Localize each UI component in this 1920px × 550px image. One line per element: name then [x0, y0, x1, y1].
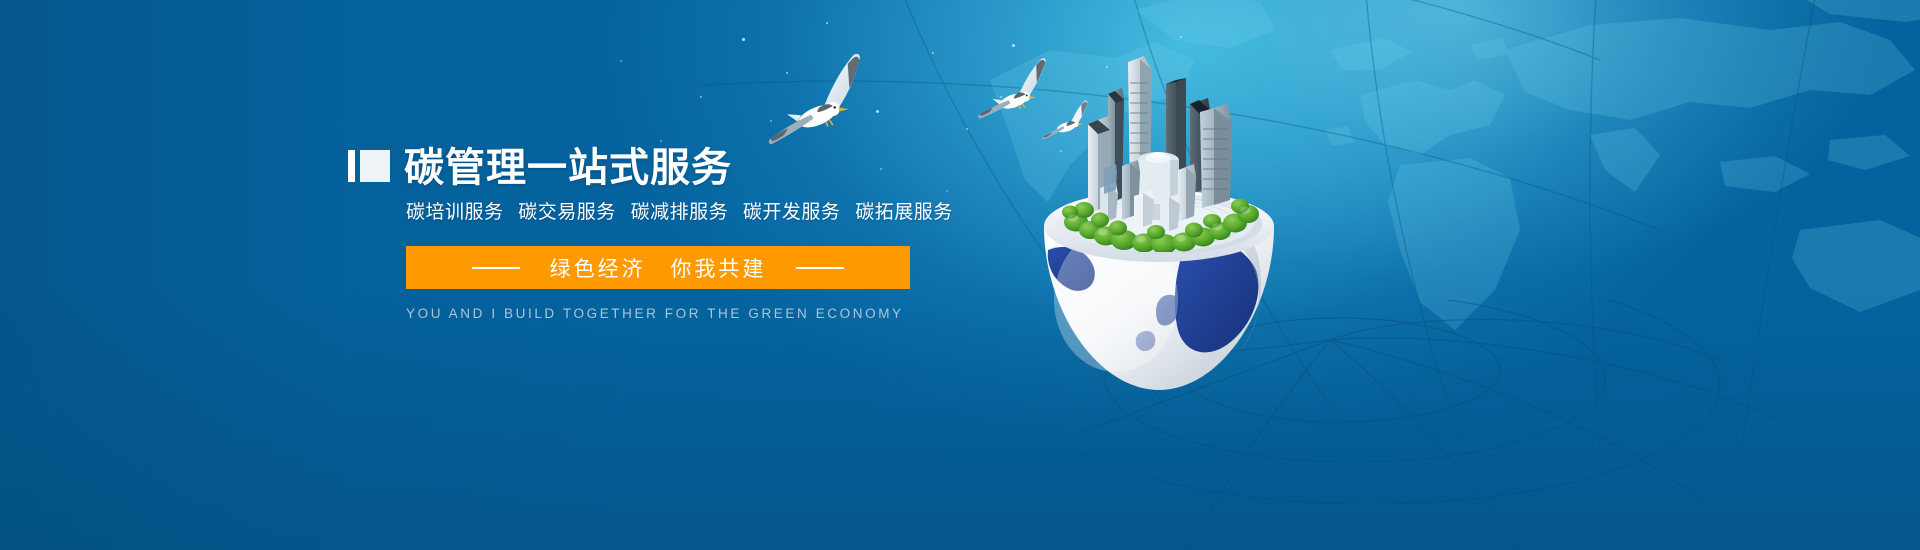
service-item-0: 碳培训服务: [406, 202, 504, 223]
banner-title: 碳管理一站式服务: [404, 148, 732, 188]
service-item-4: 碳拓展服务: [855, 202, 953, 223]
english-tagline: YOU AND I BUILD TOGETHER FOR THE GREEN E…: [406, 306, 1048, 321]
slogan-part-2: 你我共建: [662, 258, 774, 281]
slogan-banner: 绿色经济 你我共建: [406, 246, 910, 289]
slogan-dash-left: [472, 267, 520, 269]
service-item-1: 碳交易服务: [518, 202, 616, 223]
service-item-3: 碳开发服务: [743, 202, 841, 223]
logo-mark-icon: [348, 150, 390, 182]
tree-ring: [1060, 188, 1270, 252]
logo-bar-shape: [348, 150, 355, 182]
hero-banner: 碳管理一站式服务 碳培训服务 碳交易服务 碳减排服务 碳开发服务 碳拓展服务 绿…: [0, 0, 1920, 550]
slogan-part-1: 绿色经济: [542, 258, 654, 281]
banner-text-block: 碳管理一站式服务 碳培训服务 碳交易服务 碳减排服务 碳开发服务 碳拓展服务 绿…: [348, 148, 1048, 321]
logo-square-shape: [360, 150, 390, 182]
seagull-large-icon: [757, 48, 881, 148]
slogan-text: 绿色经济 你我共建: [542, 253, 775, 283]
service-list: 碳培训服务 碳交易服务 碳减排服务 碳开发服务 碳拓展服务: [406, 197, 1048, 224]
service-item-2: 碳减排服务: [631, 202, 729, 223]
title-row: 碳管理一站式服务: [348, 148, 1048, 188]
globe-city-illustration: [1030, 40, 1290, 370]
slogan-dash-right: [796, 267, 844, 269]
